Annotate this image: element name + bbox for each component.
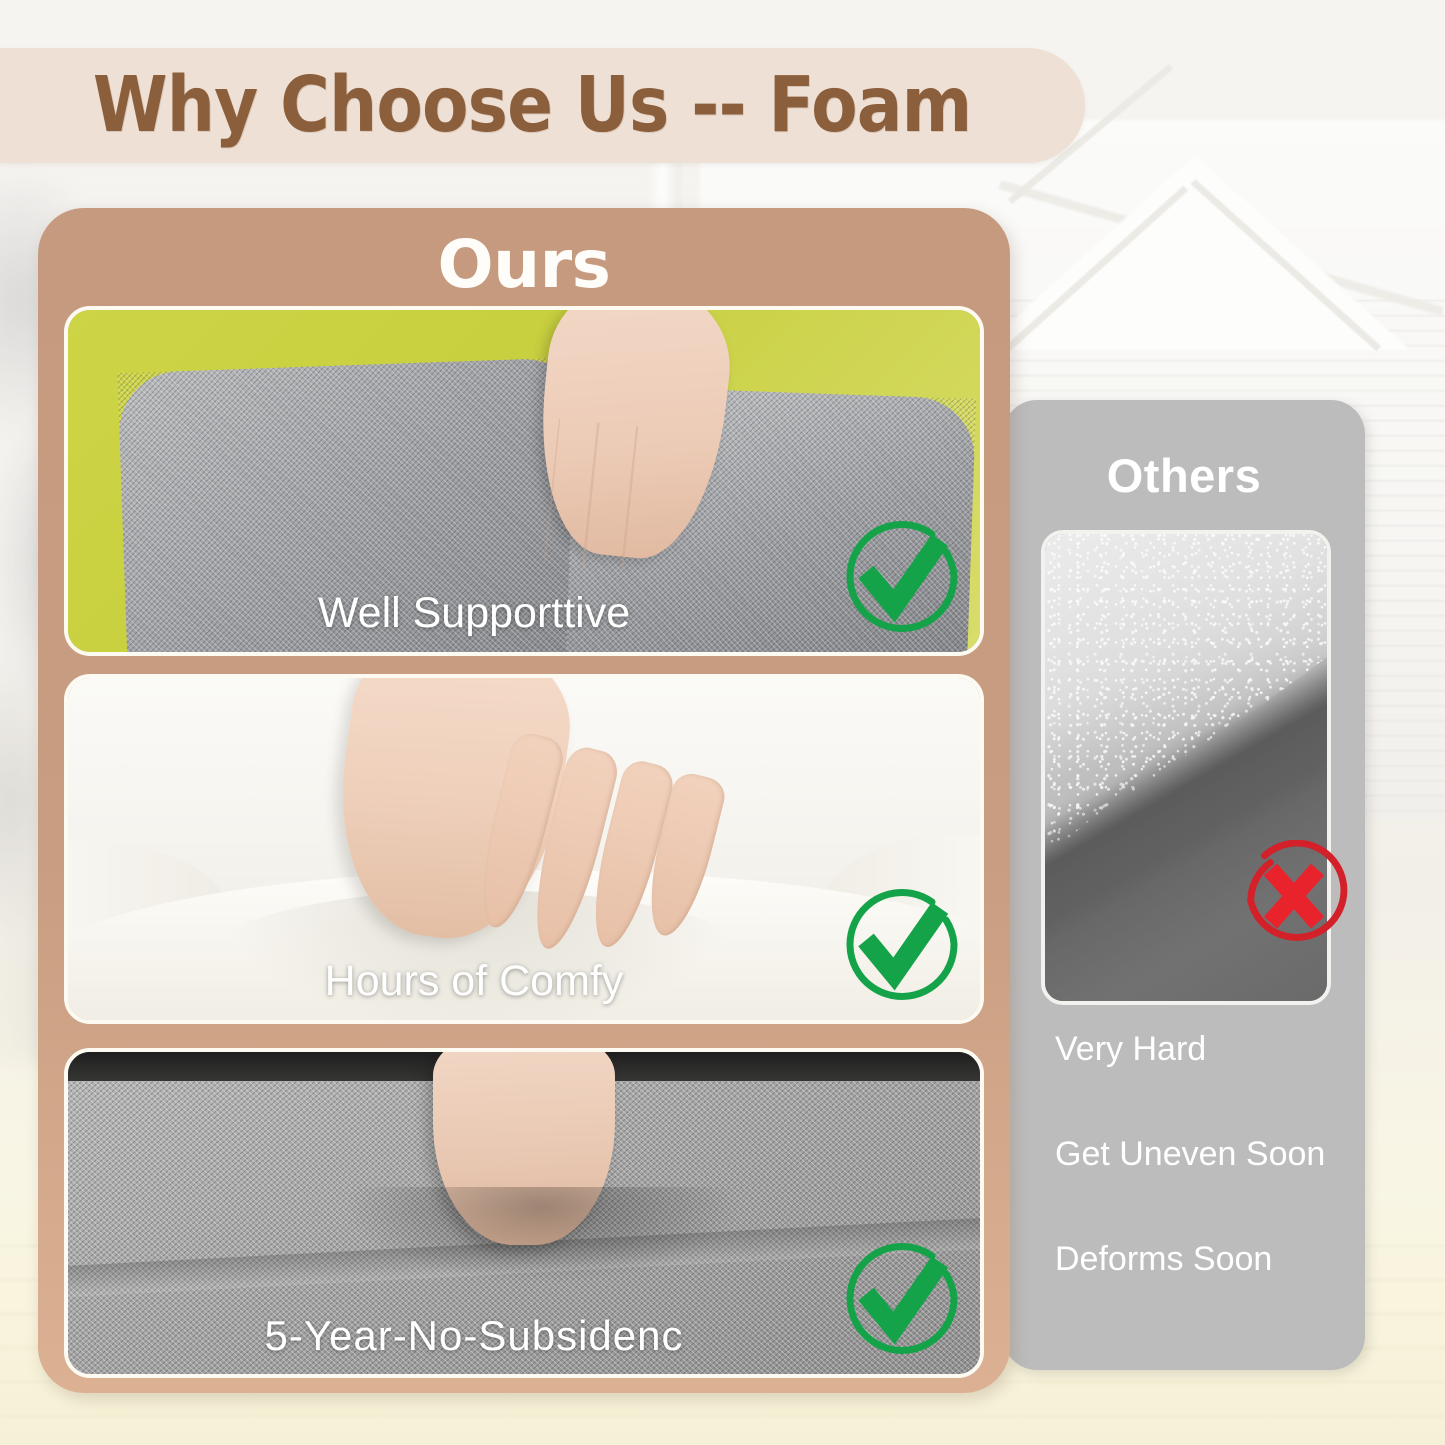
ours-card-hours-of-comfy: Hours of Comfy: [64, 674, 984, 1024]
list-item: Very Hard: [1003, 1030, 1365, 1069]
list-item: Deforms Soon: [1003, 1240, 1365, 1279]
green-check-icon: [836, 1236, 966, 1366]
page-title: Why Choose Us -- Foam: [93, 61, 971, 150]
others-panel: Others Very Hard Get Uneven Soon Deforms…: [1003, 400, 1365, 1370]
green-check-icon: [836, 882, 966, 1012]
press-shadow: [342, 1187, 743, 1284]
others-cons-list: Very Hard Get Uneven Soon Deforms Soon: [1003, 1030, 1365, 1345]
list-item: Get Uneven Soon: [1003, 1135, 1365, 1174]
header-banner: Why Choose Us -- Foam: [0, 48, 1085, 163]
green-check-icon: [836, 514, 966, 644]
ours-panel: Ours Well Supporttive: [38, 208, 1010, 1393]
ours-card-well-supportive: Well Supporttive: [64, 306, 984, 656]
fingers: [544, 419, 713, 578]
ours-title: Ours: [38, 226, 1010, 303]
red-x-icon: [1235, 840, 1353, 958]
ours-card-no-subsidence: 5-Year-No-Subsidenc: [64, 1048, 984, 1378]
others-title: Others: [1003, 448, 1365, 503]
